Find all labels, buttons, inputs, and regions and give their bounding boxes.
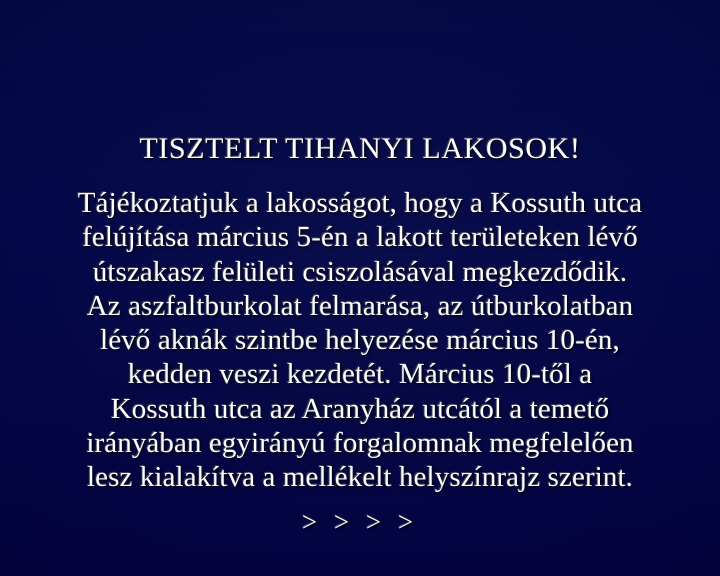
body-line: Az aszfaltburkolat felmarása, az útburko… bbox=[34, 289, 686, 323]
body-line: Tájékoztatjuk a lakosságot, hogy a Kossu… bbox=[34, 186, 686, 220]
body-line: lesz kialakítva a mellékelt helyszínrajz… bbox=[34, 460, 686, 494]
body-line: Kossuth utca az Aranyház utcától a temet… bbox=[34, 392, 686, 426]
body-line: felújítása március 5-én a lakott terület… bbox=[34, 220, 686, 254]
continuation-chevrons-icon: > > > > bbox=[0, 505, 720, 539]
information-slide: TISZTELT TIHANYI LAKOSOK! Tájékoztatjuk … bbox=[0, 0, 720, 576]
body-line: kedden veszi kezdetét. Március 10-től a bbox=[34, 357, 686, 391]
announcement-body: Tájékoztatjuk a lakosságot, hogy a Kossu… bbox=[34, 186, 686, 495]
body-line: lévő aknák szintbe helyezése március 10-… bbox=[34, 323, 686, 357]
page-title: TISZTELT TIHANYI LAKOSOK! bbox=[0, 130, 720, 168]
body-line: irányában egyirányú forgalomnak megfelel… bbox=[34, 426, 686, 460]
body-line: útszakasz felületi csiszolásával megkezd… bbox=[34, 255, 686, 289]
